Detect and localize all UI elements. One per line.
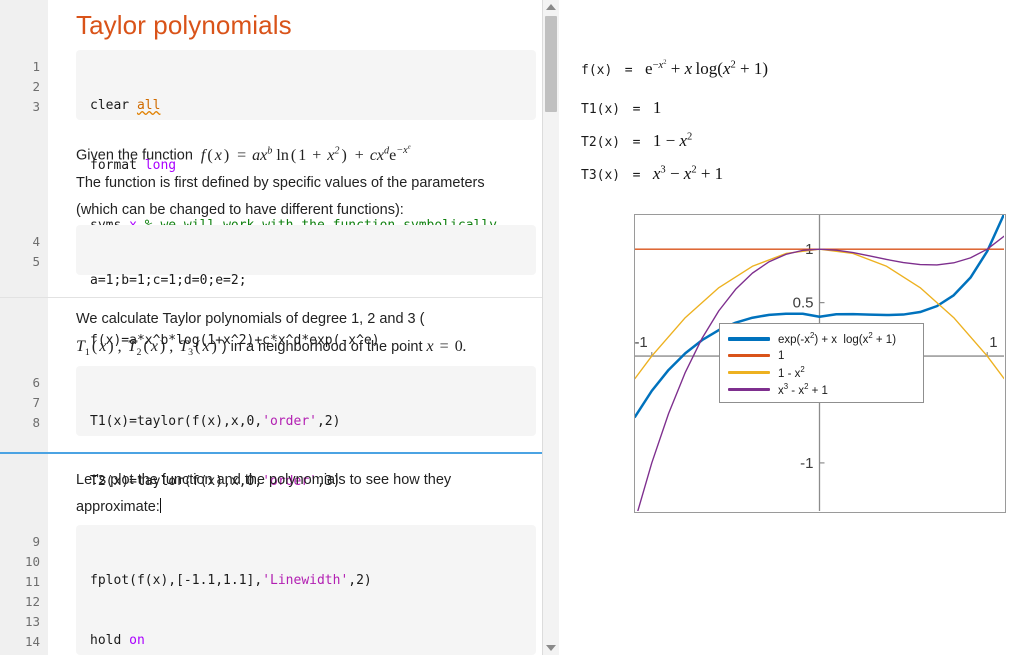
code-block-3[interactable]: T1(x)=taylor(f(x),x,0,'order',2) T2(x)=t…	[76, 366, 536, 436]
paragraph-parameters: The function is first defined by specifi…	[76, 170, 536, 224]
output-equation: 1 − x2	[653, 131, 692, 150]
legend-swatch-icon	[728, 337, 770, 341]
paragraph-text: approximate:	[76, 499, 160, 515]
equals-sign: =	[625, 102, 649, 117]
line-number: 7	[0, 393, 40, 413]
legend-entry: 1	[728, 347, 915, 364]
output-label: T1(x)	[581, 102, 620, 117]
legend-entry: exp(-x2) + x log(x2 + 1)	[728, 330, 915, 347]
output-row-T1: T1(x) = 1	[581, 98, 661, 118]
paragraph-line: The function is first defined by specifi…	[76, 170, 536, 197]
legend-entry: x3 - x2 + 1	[728, 381, 915, 398]
plot-legend[interactable]: exp(-x2) + x log(x2 + 1) 1 1 - x2 x3 - x…	[719, 323, 924, 403]
output-label: f(x)	[581, 63, 612, 78]
page-title: Taylor polynomials	[76, 10, 292, 41]
text-cursor	[160, 498, 161, 513]
line-number: 6	[0, 373, 40, 393]
line-number: 11	[0, 572, 40, 592]
live-editor-window: Taylor polynomials 1 2 3 clear all forma…	[0, 0, 1030, 655]
code-line: T1(x)=taylor(f(x),x,0,'order',2)	[90, 412, 526, 432]
equals-sign: =	[625, 168, 649, 183]
inline-formula-f-definition: f(x) = axb ln(1 + x2) + cxde−xe	[197, 147, 411, 164]
line-number: 12	[0, 592, 40, 612]
output-row-T3: T3(x) = x3 − x2 + 1	[581, 164, 723, 184]
code-block-2[interactable]: a=1;b=1;c=1;d=0;e=2; f(x)=a*x^b*log(1+x^…	[76, 225, 536, 275]
output-label: T2(x)	[581, 135, 620, 150]
paragraph-text: ) in a neighborhood of the point	[219, 339, 427, 355]
legend-swatch-icon	[728, 388, 770, 391]
scrollbar-thumb[interactable]	[545, 16, 557, 112]
code-block-1[interactable]: clear all format long syms x % we will w…	[76, 50, 536, 120]
paragraph-lets-plot: Let's plot the function and the polynomi…	[76, 467, 536, 521]
legend-label: 1	[778, 350, 784, 362]
equals-sign: =	[617, 63, 641, 78]
paragraph-line: T1(x), T2(x), T3(x) ) in a neighborhood …	[76, 333, 536, 366]
paragraph-taylor-degrees: We calculate Taylor polynomials of degre…	[76, 306, 536, 366]
output-equation: e−x2 + x log(x2 + 1)	[645, 59, 768, 78]
legend-label: 1 - x2	[778, 365, 805, 380]
legend-swatch-icon	[728, 354, 770, 357]
x-tick-label: -1	[635, 334, 648, 351]
line-number: 1	[0, 57, 40, 77]
legend-label: exp(-x2) + x log(x2 + 1)	[778, 331, 896, 346]
paragraph-line: (which can be changed to have different …	[76, 197, 536, 224]
inline-formula-x-equals-zero: x = 0.	[427, 338, 467, 355]
equals-sign: =	[625, 135, 649, 150]
line-number: 9	[0, 532, 40, 552]
line-number: 14	[0, 632, 40, 652]
output-row-f: f(x) = e−x2 + x log(x2 + 1)	[581, 58, 768, 79]
y-tick-label: 0.5	[793, 295, 814, 312]
x-tick-label: 1	[989, 334, 997, 351]
line-number: 13	[0, 612, 40, 632]
paragraph-given-function: Given the function f(x) = axb ln(1 + x2)…	[76, 134, 526, 170]
paragraph-line: Let's plot the function and the polynomi…	[76, 467, 536, 494]
output-equation: 1	[653, 98, 662, 117]
line-number: 10	[0, 552, 40, 572]
line-number: 8	[0, 413, 40, 433]
code-line: a=1;b=1;c=1;d=0;e=2;	[90, 271, 526, 291]
code-line: fplot(f(x),[-1.1,1.1],'Linewidth',2)	[90, 571, 526, 591]
paragraph-text: Given the function	[76, 148, 193, 164]
scroll-up-arrow-icon[interactable]	[543, 0, 559, 14]
y-tick-label: -1	[800, 455, 813, 472]
output-label: T3(x)	[581, 168, 620, 183]
paragraph-line: approximate:	[76, 494, 536, 521]
line-number: 4	[0, 232, 40, 252]
paragraph-line: We calculate Taylor polynomials of degre…	[76, 306, 536, 333]
output-row-T2: T2(x) = 1 − x2	[581, 131, 692, 151]
legend-swatch-icon	[728, 371, 770, 374]
output-equation: x3 − x2 + 1	[653, 164, 723, 183]
live-script-editor[interactable]: Taylor polynomials 1 2 3 clear all forma…	[0, 0, 542, 655]
legend-entry: 1 - x2	[728, 364, 915, 381]
line-number: 3	[0, 97, 40, 117]
scroll-down-arrow-icon[interactable]	[543, 641, 559, 655]
code-line: hold on	[90, 631, 526, 651]
line-number: 2	[0, 77, 40, 97]
editor-scrollbar[interactable]	[542, 0, 560, 655]
code-line: clear all	[90, 96, 526, 116]
line-number: 5	[0, 252, 40, 272]
code-block-4[interactable]: fplot(f(x),[-1.1,1.1],'Linewidth',2) hol…	[76, 525, 536, 655]
inline-formula-T-list: T1(x), T2(x), T3(x)	[76, 338, 219, 355]
legend-label: x3 - x2 + 1	[778, 382, 828, 397]
